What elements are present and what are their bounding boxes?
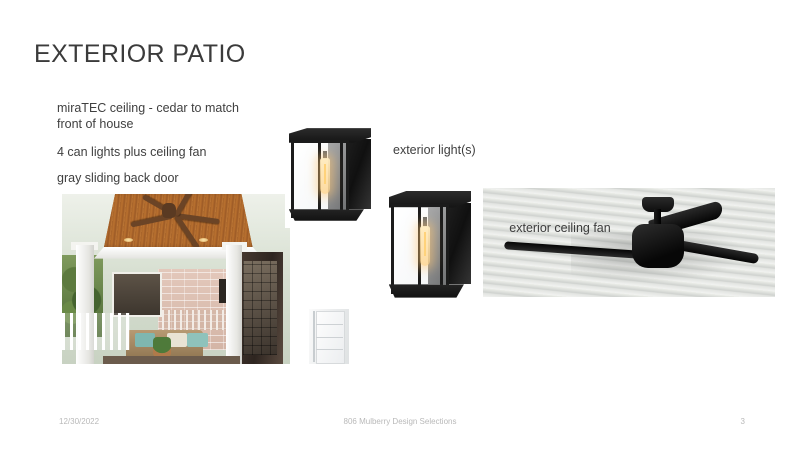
sconce-assembly-2: [385, 186, 479, 306]
sliding-door-divider-2: [316, 337, 342, 338]
patio-floor: [103, 356, 240, 365]
sliding-door-photo: [309, 309, 349, 364]
patio-fan-motor: [162, 203, 176, 218]
recessed-light-1: [124, 238, 133, 242]
body-line-1: miraTEC ceiling - cedar to match: [57, 100, 287, 116]
sliding-door-divider-1: [316, 324, 342, 325]
sconce-frame-bar-1b: [340, 141, 343, 212]
sliding-door-jamb: [313, 311, 315, 363]
sconce-assembly-1: [285, 124, 379, 228]
door-glass-panes: [243, 261, 278, 355]
body-paragraph-3: gray sliding back door: [57, 170, 287, 186]
page-title: EXTERIOR PATIO: [34, 40, 246, 69]
porch-railing-far: [162, 310, 226, 330]
body-paragraph-1: miraTEC ceiling - cedar to match front o…: [57, 100, 287, 132]
footer-deck-name: 806 Mulberry Design Selections: [344, 417, 457, 426]
slide-footer: 12/30/2022 806 Mulberry Design Selection…: [0, 417, 800, 431]
exterior-sconce-photo-1: [285, 124, 379, 228]
sconce-filament-1: [324, 164, 326, 185]
sconce-filament-2: [424, 232, 426, 256]
body-paragraph-2: 4 can lights plus ceiling fan: [57, 144, 287, 160]
sconce-frame-bar-2b: [440, 205, 443, 287]
porch-column-right: [226, 245, 242, 364]
sconce-base-1: [289, 209, 364, 220]
potted-plant: [153, 337, 171, 357]
sliding-door-divider-3: [316, 349, 342, 350]
patio-window: [112, 272, 162, 317]
footer-page-number: 3: [741, 417, 745, 426]
label-exterior-lights: exterior light(s): [393, 143, 476, 157]
ceiling-fan-photo: exterior ceiling fan: [483, 188, 775, 297]
sconce-base-2: [389, 284, 464, 297]
slide-canvas: EXTERIOR PATIO miraTEC ceiling - cedar t…: [0, 0, 800, 449]
patio-photo: [62, 194, 290, 364]
fan-motor-housing: [632, 224, 685, 268]
body-line-2: front of house: [57, 116, 287, 132]
throw-pillow-3: [187, 333, 208, 347]
body-text-block: miraTEC ceiling - cedar to match front o…: [57, 100, 287, 196]
exterior-sconce-photo-2: [385, 186, 479, 306]
patio-french-door: [235, 252, 283, 364]
porch-railing-near: [62, 313, 130, 350]
footer-date: 12/30/2022: [59, 417, 99, 426]
label-exterior-ceiling-fan: exterior ceiling fan: [509, 221, 610, 235]
